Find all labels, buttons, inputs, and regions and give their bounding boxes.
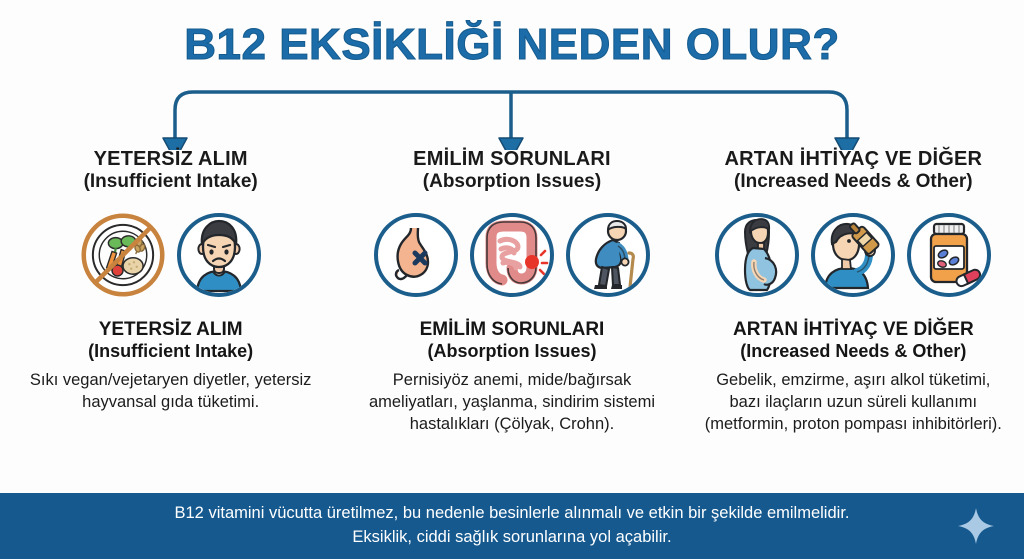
column-1-body-title: YETERSİZ ALIM (Insufficient Intake)	[88, 319, 253, 362]
infographic-root: B12 EKSİKLİĞİ NEDEN OLUR? YETERSİZ ALIM …	[0, 0, 1024, 559]
column-2-body-title-en: (Absorption Issues)	[420, 341, 605, 362]
column-2-body-title: EMİLİM SORUNLARI (Absorption Issues)	[420, 319, 605, 362]
four-point-sparkle-icon	[956, 506, 996, 546]
column-absorption-issues: EMİLİM SORUNLARI (Absorption Issues)	[341, 148, 682, 436]
column-insufficient-intake: YETERSİZ ALIM (Insufficient Intake)	[0, 148, 341, 414]
connector-bracket	[0, 82, 1024, 150]
column-1-body-title-tr: YETERSİZ ALIM	[88, 319, 253, 341]
footer-banner: B12 vitamini vücutta üretilmez, bu neden…	[0, 493, 1024, 559]
column-increased-needs: ARTAN İHTİYAÇ VE DİĞER (Increased Needs …	[683, 148, 1024, 436]
column-2-body-text: Pernisiyöz anemi, mide/bağırsak ameliyat…	[362, 370, 662, 436]
column-3-icon-row	[715, 207, 991, 303]
intestines-pain-icon	[470, 213, 554, 297]
column-1-heading: YETERSİZ ALIM (Insufficient Intake)	[84, 148, 258, 193]
page-title: B12 EKSİKLİĞİ NEDEN OLUR?	[0, 20, 1024, 70]
column-1-body-title-en: (Insufficient Intake)	[88, 341, 253, 362]
column-3-heading-en: (Increased Needs & Other)	[724, 171, 982, 193]
pregnant-woman-icon	[715, 213, 799, 297]
sad-person-icon	[177, 213, 261, 297]
column-2-heading-tr: EMİLİM SORUNLARI	[413, 148, 611, 171]
column-3-heading-tr: ARTAN İHTİYAÇ VE DİĞER	[724, 148, 982, 171]
footer-line-2: Eksiklik, ciddi sağlık sorunlarına yol a…	[175, 526, 850, 550]
person-drinking-alcohol-icon	[811, 213, 895, 297]
medicine-bottle-pills-icon	[907, 213, 991, 297]
column-1-heading-tr: YETERSİZ ALIM	[84, 148, 258, 171]
footer-line-1: B12 vitamini vücutta üretilmez, bu neden…	[175, 502, 850, 526]
elderly-person-cane-icon	[566, 213, 650, 297]
footer-text: B12 vitamini vücutta üretilmez, bu neden…	[175, 502, 850, 550]
column-1-heading-en: (Insufficient Intake)	[84, 171, 258, 193]
column-3-body-title: ARTAN İHTİYAÇ VE DİĞER (Increased Needs …	[733, 319, 974, 362]
column-3-body-title-tr: ARTAN İHTİYAÇ VE DİĞER	[733, 319, 974, 341]
column-1-icon-row	[81, 207, 261, 303]
column-3-heading: ARTAN İHTİYAÇ VE DİĞER (Increased Needs …	[724, 148, 982, 193]
column-2-heading: EMİLİM SORUNLARI (Absorption Issues)	[413, 148, 611, 193]
column-3-body-text: Gebelik, emzirme, aşırı alkol tüketimi, …	[703, 370, 1003, 436]
no-vegetables-plate-icon	[81, 213, 165, 297]
column-3-body-title-en: (Increased Needs & Other)	[733, 341, 974, 362]
column-1-body-text: Sıkı vegan/vejetaryen diyetler, yetersiz…	[21, 370, 321, 414]
column-2-icon-row	[374, 207, 650, 303]
column-2-heading-en: (Absorption Issues)	[413, 171, 611, 193]
column-2-body-title-tr: EMİLİM SORUNLARI	[420, 319, 605, 341]
stomach-with-x-icon	[374, 213, 458, 297]
columns-container: YETERSİZ ALIM (Insufficient Intake)	[0, 148, 1024, 493]
